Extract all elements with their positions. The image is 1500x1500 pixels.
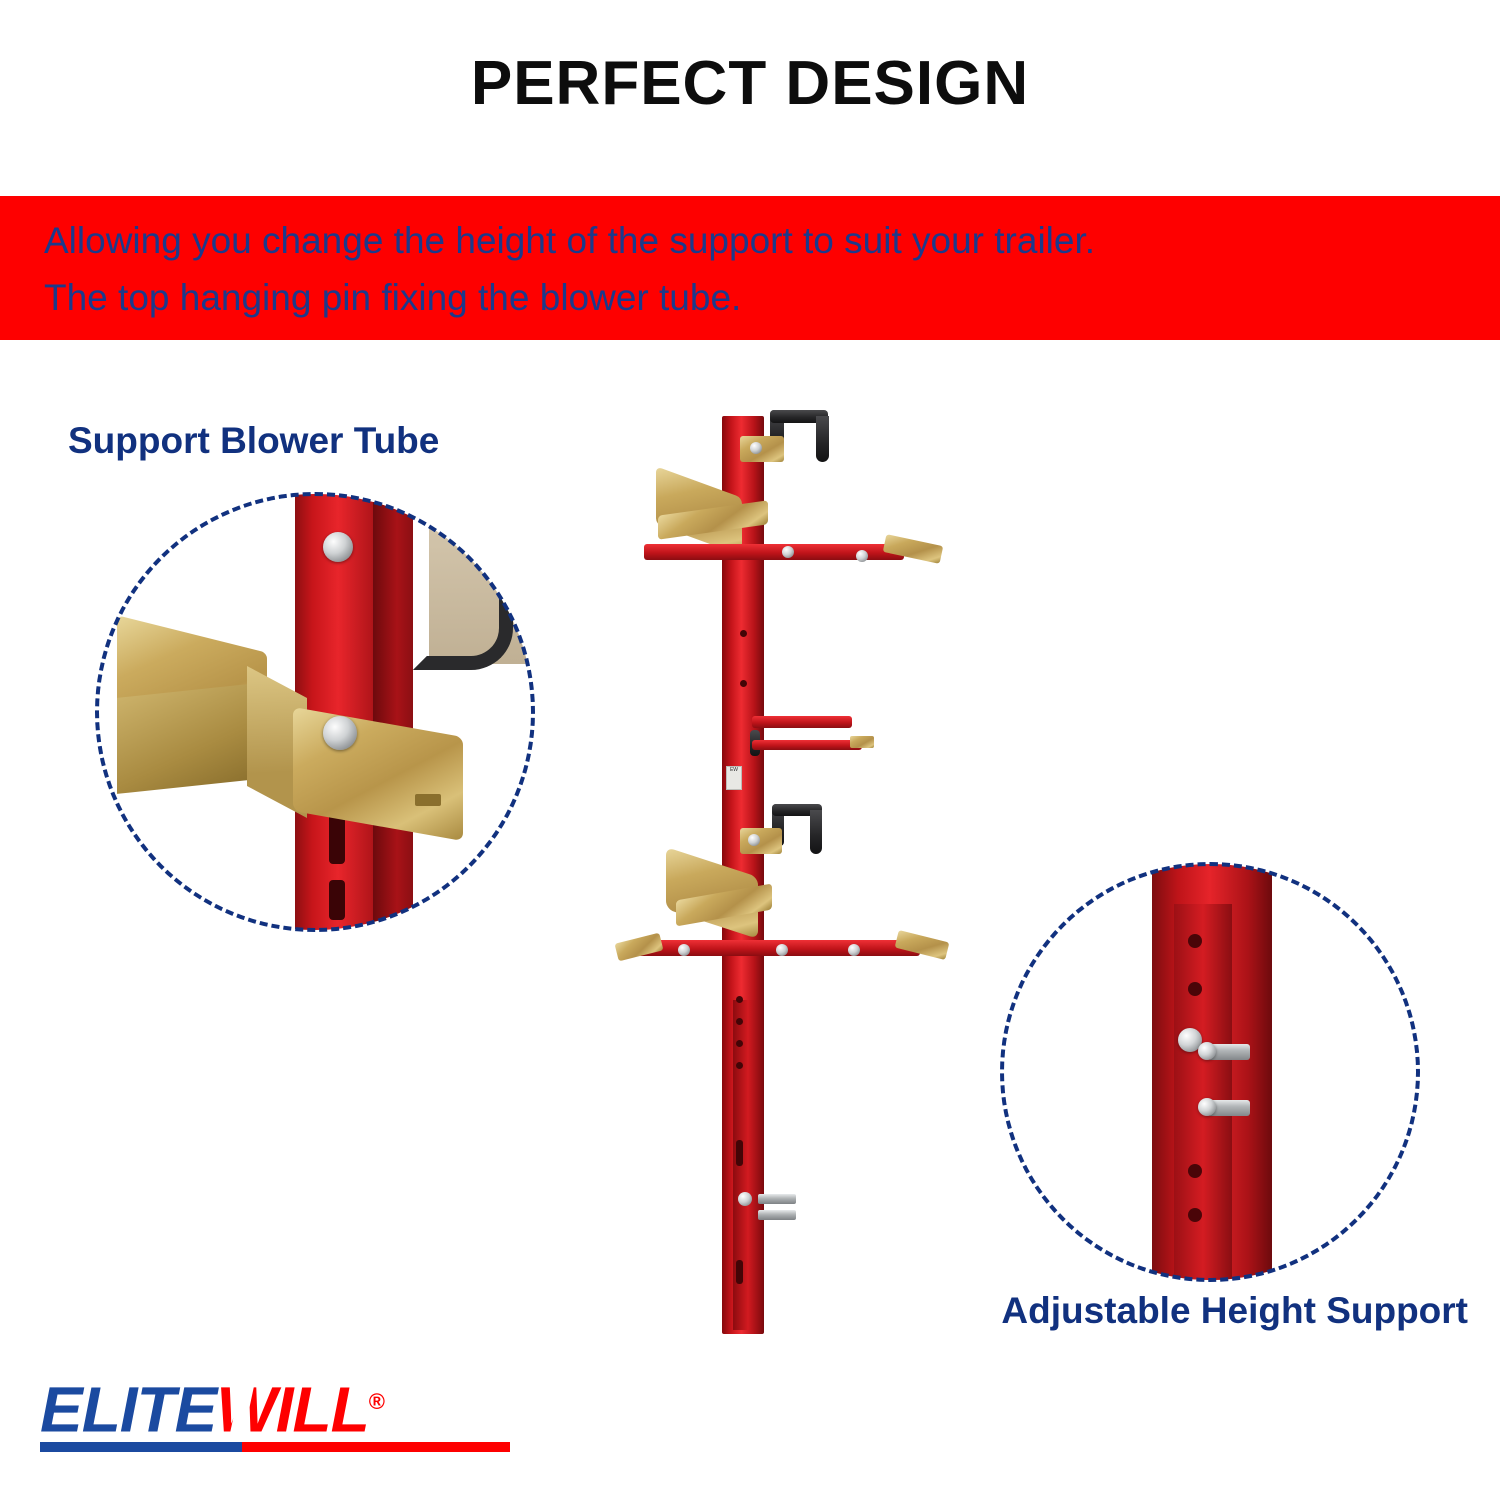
product-bottom-pin-1 bbox=[758, 1194, 796, 1204]
banner-description: Allowing you change the height of the su… bbox=[44, 212, 1444, 326]
product-photo: EW bbox=[600, 400, 960, 1350]
product-top-bolt bbox=[750, 442, 762, 454]
product-lower-arm-brass-left bbox=[615, 933, 664, 962]
product-adjust-hole-1 bbox=[736, 996, 743, 1003]
brand-logo-elite: ELITE bbox=[40, 1373, 216, 1445]
callout-label-adjustable-height-support: Adjustable Height Support bbox=[1001, 1290, 1468, 1332]
product-infographic-page: PERFECT DESIGN Allowing you change the h… bbox=[0, 0, 1500, 1500]
product-hole-2 bbox=[740, 680, 747, 687]
page-title: PERFECT DESIGN bbox=[0, 48, 1500, 119]
banner-line-2: The top hanging pin fixing the blower tu… bbox=[44, 269, 1444, 326]
product-upper-arm-bolt-1 bbox=[782, 546, 794, 558]
product-spec-label-text: EW bbox=[727, 767, 741, 774]
product-lower-hook-tip bbox=[810, 810, 822, 854]
product-mid-arm-brass-tip bbox=[850, 736, 874, 748]
product-mid-arm bbox=[752, 716, 852, 728]
dashed-circle-left bbox=[95, 492, 535, 932]
product-lower-arm-bolt-2 bbox=[776, 944, 788, 956]
product-hole-1 bbox=[740, 630, 747, 637]
brand-logo-registered: ® bbox=[369, 1389, 384, 1414]
brand-logo-underline bbox=[40, 1442, 510, 1452]
product-upper-arm-bolt-2 bbox=[856, 550, 868, 562]
product-adjust-hole-2 bbox=[736, 1018, 743, 1025]
product-lower-bolt bbox=[748, 834, 760, 846]
brand-logo: ELITEWILL® bbox=[40, 1370, 384, 1460]
brand-logo-text: ELITEWILL® bbox=[40, 1370, 384, 1441]
product-lower-arm-bolt-1 bbox=[678, 944, 690, 956]
product-lower-brass-block bbox=[740, 828, 782, 854]
product-bottom-pin-2 bbox=[758, 1210, 796, 1220]
product-bottom-bolt bbox=[738, 1192, 752, 1206]
product-top-brass-block bbox=[740, 436, 784, 462]
product-lower-arm-bolt-3 bbox=[848, 944, 860, 956]
product-top-hook-tip bbox=[816, 416, 829, 462]
callout-label-support-blower-tube: Support Blower Tube bbox=[68, 420, 439, 462]
dashed-circle-right bbox=[1000, 862, 1420, 1282]
banner-line-1: Allowing you change the height of the su… bbox=[44, 212, 1444, 269]
product-spec-label: EW bbox=[726, 766, 742, 790]
product-adjust-hole-3 bbox=[736, 1040, 743, 1047]
product-mid-arm-2 bbox=[752, 740, 862, 750]
product-bottom-slot bbox=[736, 1260, 743, 1284]
product-adjust-hole-4 bbox=[736, 1062, 743, 1069]
product-adjust-slot bbox=[736, 1140, 743, 1166]
